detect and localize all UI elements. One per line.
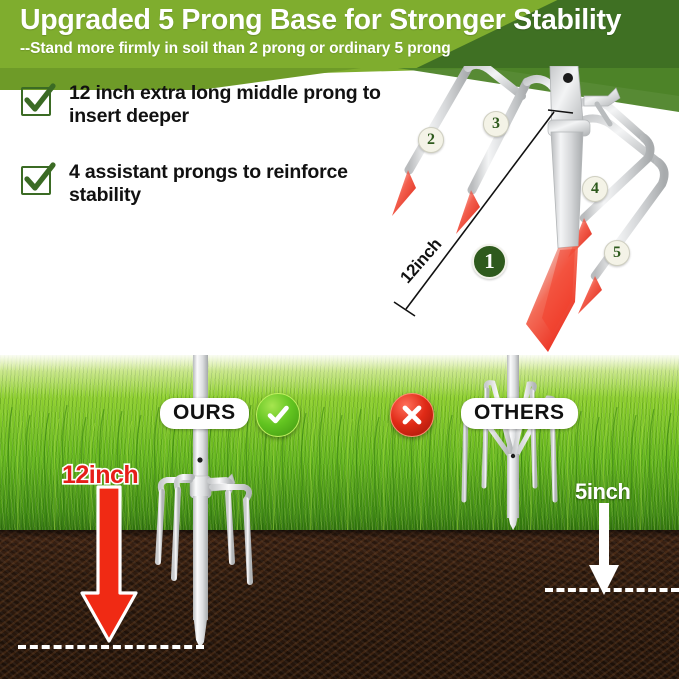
prong-badge-3: 3: [483, 111, 509, 137]
red-x-circle-icon: [390, 393, 434, 437]
feature-list: 12 inch extra long middle prong to inser…: [20, 82, 420, 240]
prong-base-illustration: [372, 66, 679, 356]
others-depth-dashed-line: [545, 588, 679, 592]
ours-depth-arrow-icon: [78, 485, 140, 645]
ours-label: OURS: [160, 398, 249, 429]
others-label: OTHERS: [461, 398, 578, 429]
page-subtitle: --Stand more firmly in soil than 2 prong…: [20, 40, 451, 58]
page-title: Upgraded 5 Prong Base for Stronger Stabi…: [20, 4, 621, 37]
green-check-circle-icon: [256, 393, 300, 437]
product-infographic: Upgraded 5 Prong Base for Stronger Stabi…: [0, 0, 679, 679]
prong-badge-2: 2: [418, 127, 444, 153]
header-banner: Upgraded 5 Prong Base for Stronger Stabi…: [0, 0, 679, 68]
check-box-icon: [20, 84, 56, 117]
prong-badge-1: 1: [472, 244, 507, 279]
list-item: 12 inch extra long middle prong to inser…: [20, 82, 420, 127]
others-depth-label: 5inch: [575, 479, 630, 505]
check-box-icon: [20, 163, 56, 196]
feature-text: 4 assistant prongs to reinforce stabilit…: [69, 161, 420, 206]
list-item: 4 assistant prongs to reinforce stabilit…: [20, 161, 420, 206]
others-depth-arrow-icon: [587, 503, 621, 599]
comparison-scene: OURS OTHERS 12inch 5inch: [0, 355, 679, 679]
product-diagram: 2 3 4 5 1 12inch: [372, 66, 679, 356]
feature-text: 12 inch extra long middle prong to inser…: [69, 82, 420, 127]
prong-badge-4: 4: [582, 176, 608, 202]
prong-badge-5: 5: [604, 240, 630, 266]
ours-depth-dashed-line: [18, 645, 204, 649]
